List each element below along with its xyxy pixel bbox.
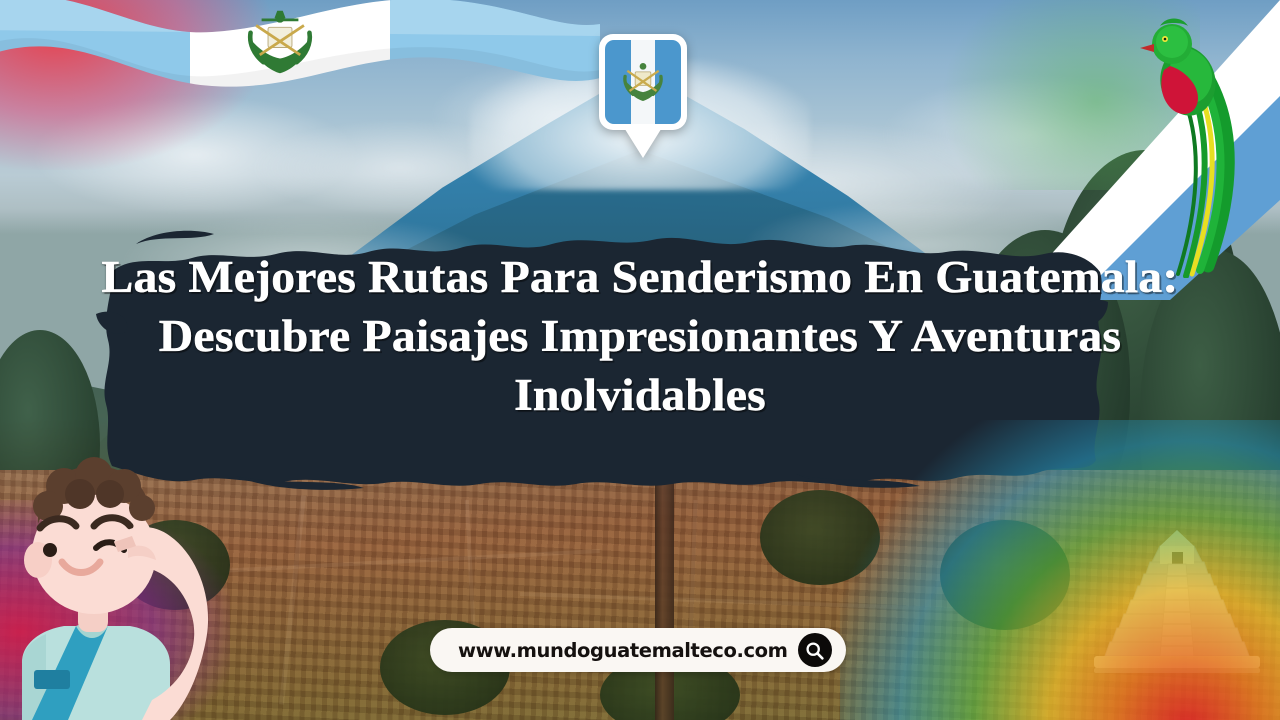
website-url-text: www.mundoguatemalteco.com — [458, 639, 788, 662]
search-icon[interactable] — [798, 633, 832, 667]
guatemala-flag-ribbon — [0, 0, 600, 136]
guatemala-flag-map-pin-icon — [595, 30, 691, 160]
tikal-mayan-pyramid-icon — [1082, 524, 1272, 704]
town-tree — [760, 490, 880, 585]
page-title: Las Mejores Rutas Para Senderismo En Gua… — [46, 248, 1233, 425]
website-url-pill[interactable]: www.mundoguatemalteco.com — [430, 628, 846, 672]
town-tree — [940, 520, 1070, 630]
hero-banner-stage: Las Mejores Rutas Para Senderismo En Gua… — [0, 0, 1280, 720]
quetzal-bird-icon — [1116, 8, 1266, 278]
cartoon-boy-saluting — [2, 450, 228, 720]
